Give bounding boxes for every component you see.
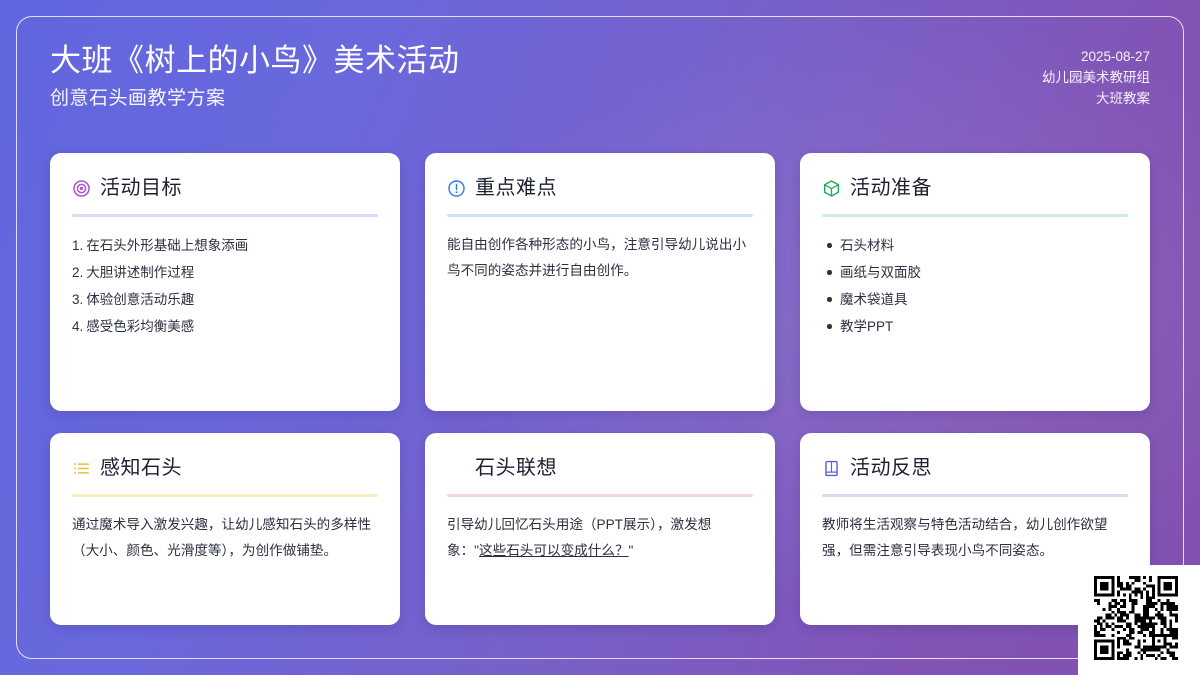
header-org: 幼儿园美术教研组	[1042, 67, 1150, 88]
card-title: 活动反思	[850, 454, 932, 482]
card-title: 石头联想	[475, 454, 557, 482]
list-item: 4.感受色彩均衡美感	[72, 313, 378, 340]
card-title: 活动准备	[850, 174, 932, 202]
exclamation-circle-icon	[447, 179, 466, 198]
card-body-text: 引导幼儿回忆石头用途（PPT展示），激发想象："这些石头可以变成什么？"	[447, 512, 753, 564]
card-body-text: 能自由创作各种形态的小鸟，注意引导幼儿说出小鸟不同的姿态并进行自由创作。	[447, 232, 753, 284]
page-subtitle: 创意石头画教学方案	[50, 84, 460, 114]
card-divider	[822, 214, 1128, 217]
card-header: 活动准备	[822, 173, 1128, 203]
card-body-text: 教师将生活观察与特色活动结合，幼儿创作欲望强，但需注意引导表现小鸟不同姿态。	[822, 512, 1128, 564]
card-title: 活动目标	[100, 174, 182, 202]
card-divider	[72, 494, 378, 497]
list-item-number: 4.	[72, 319, 83, 334]
page-title: 大班《树上的小鸟》美术活动	[50, 40, 460, 82]
card-key-difficulties: 重点难点 能自由创作各种形态的小鸟，注意引导幼儿说出小鸟不同的姿态并进行自由创作…	[425, 153, 775, 411]
list-item: 教学PPT	[840, 313, 1128, 340]
body-text-underlined: 这些石头可以变成什么？	[479, 543, 629, 558]
card-body-text: 通过魔术导入激发兴趣，让幼儿感知石头的多样性（大小、颜色、光滑度等），为创作做铺…	[72, 512, 378, 564]
card-divider	[72, 214, 378, 217]
goals-list: 1.在石头外形基础上想象添画 2.大胆讲述制作过程 3.体验创意活动乐趣 4.感…	[72, 232, 378, 340]
list-item-label: 感受色彩均衡美感	[86, 319, 194, 334]
list-item-label: 在石头外形基础上想象添画	[86, 238, 248, 253]
card-divider	[447, 494, 753, 497]
box-icon	[822, 179, 841, 198]
qr-code[interactable]	[1094, 576, 1178, 660]
header-date: 2025-08-27	[1042, 46, 1150, 67]
list-icon	[72, 459, 91, 478]
book-icon	[822, 459, 841, 478]
preparation-list: 石头材料 画纸与双面胶 魔术袋道具 教学PPT	[822, 232, 1128, 340]
slide-root: 大班《树上的小鸟》美术活动 创意石头画教学方案 2025-08-27 幼儿园美术…	[0, 0, 1200, 675]
card-perceive-stones: 感知石头 通过魔术导入激发兴趣，让幼儿感知石头的多样性（大小、颜色、光滑度等），…	[50, 433, 400, 625]
header-doc-type: 大班教案	[1042, 88, 1150, 109]
list-item-number: 2.	[72, 265, 83, 280]
target-icon	[72, 179, 91, 198]
card-divider	[447, 214, 753, 217]
card-stone-association: 石头联想 引导幼儿回忆石头用途（PPT展示），激发想象："这些石头可以变成什么？…	[425, 433, 775, 625]
qr-code-panel	[1078, 565, 1200, 675]
card-header: 石头联想	[447, 453, 753, 483]
body-text-after: "	[629, 543, 634, 558]
list-item: 3.体验创意活动乐趣	[72, 286, 378, 313]
card-grid: 活动目标 1.在石头外形基础上想象添画 2.大胆讲述制作过程 3.体验创意活动乐…	[50, 153, 1150, 625]
list-item-label: 体验创意活动乐趣	[86, 292, 194, 307]
card-divider	[822, 494, 1128, 497]
card-activity-goals: 活动目标 1.在石头外形基础上想象添画 2.大胆讲述制作过程 3.体验创意活动乐…	[50, 153, 400, 411]
list-item-label: 大胆讲述制作过程	[86, 265, 194, 280]
card-header: 活动目标	[72, 173, 378, 203]
list-item-number: 1.	[72, 238, 83, 253]
header-meta-group: 2025-08-27 幼儿园美术教研组 大班教案	[1042, 38, 1150, 109]
card-header: 感知石头	[72, 453, 378, 483]
header-title-group: 大班《树上的小鸟》美术活动 创意石头画教学方案	[50, 38, 460, 114]
list-item: 1.在石头外形基础上想象添画	[72, 232, 378, 259]
card-header: 重点难点	[447, 173, 753, 203]
list-item: 2.大胆讲述制作过程	[72, 259, 378, 286]
slide-header: 大班《树上的小鸟》美术活动 创意石头画教学方案 2025-08-27 幼儿园美术…	[50, 38, 1150, 134]
card-title: 重点难点	[475, 174, 557, 202]
list-item: 石头材料	[840, 232, 1128, 259]
card-header: 活动反思	[822, 453, 1128, 483]
list-item: 魔术袋道具	[840, 286, 1128, 313]
list-item: 画纸与双面胶	[840, 259, 1128, 286]
card-activity-preparation: 活动准备 石头材料 画纸与双面胶 魔术袋道具 教学PPT	[800, 153, 1150, 411]
card-title: 感知石头	[100, 454, 182, 482]
list-item-number: 3.	[72, 292, 83, 307]
